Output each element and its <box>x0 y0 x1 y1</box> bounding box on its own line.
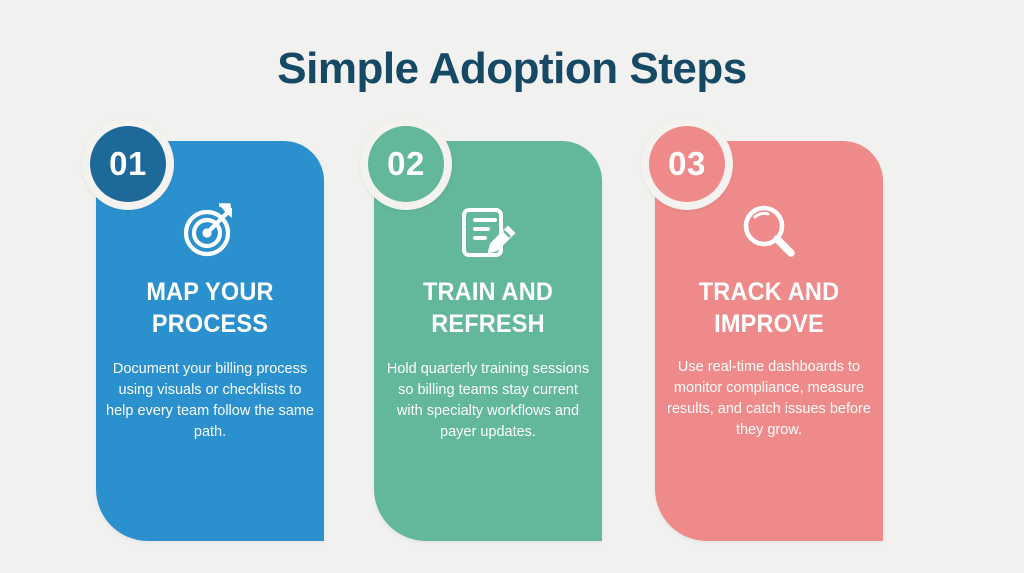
document-pencil-icon <box>374 203 602 261</box>
step-badge-3: 03 <box>641 118 733 210</box>
magnifier-icon <box>655 203 883 261</box>
step-card-3: 03 TRACK AND IMPROVE Use real-time dashb… <box>655 141 883 541</box>
infographic-canvas: Simple Adoption Steps 01 MAP YOUR PROCES… <box>0 0 1024 573</box>
step-body-2: Hold quarterly training sessions so bill… <box>384 359 592 443</box>
step-card-2: 02 TRAIN AND REFRESH Hold quarterly trai… <box>374 141 602 541</box>
page-title: Simple Adoption Steps <box>0 44 1024 94</box>
step-number-3: 03 <box>649 126 725 202</box>
step-number-1: 01 <box>90 126 166 202</box>
step-body-3: Use real-time dashboards to monitor comp… <box>665 357 873 441</box>
step-badge-1: 01 <box>82 118 174 210</box>
step-heading-3: TRACK AND IMPROVE <box>673 277 865 340</box>
step-heading-2: TRAIN AND REFRESH <box>392 277 584 340</box>
step-number-2: 02 <box>368 126 444 202</box>
steps-container: 01 MAP YOUR PROCESS Document your billin… <box>0 141 1024 551</box>
target-icon <box>96 203 324 259</box>
step-body-1: Document your billing process using visu… <box>106 359 314 443</box>
step-badge-2: 02 <box>360 118 452 210</box>
step-heading-1: MAP YOUR PROCESS <box>114 277 306 340</box>
step-card-1: 01 MAP YOUR PROCESS Document your billin… <box>96 141 324 541</box>
